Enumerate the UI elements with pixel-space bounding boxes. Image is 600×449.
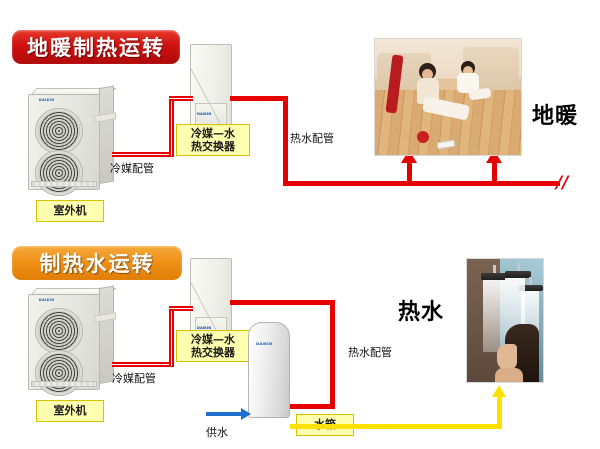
banner-floor-heating-mode: 地暖制热运转 [12, 30, 180, 64]
banner-hot-water-mode: 制热水运转 [12, 246, 182, 280]
shower-head-icon [505, 271, 531, 278]
brand-badge-icon: DAIKIN [39, 98, 54, 102]
photo-child-legs [468, 88, 491, 101]
label-hot-water-destination: 热水 [398, 294, 444, 326]
label-hot-water-pipe-bottom: 热水配管 [348, 344, 392, 360]
brand-badge-icon: DAIKIN [39, 298, 54, 302]
fan-grille-icon [36, 309, 82, 353]
outdoor-unit-body: DAIKIN [28, 294, 100, 390]
refrigerant-pipe-horizontal-top [112, 152, 174, 157]
brand-badge-icon: DAIKIN [256, 341, 272, 346]
label-refrigerant-pipe-top: 冷媒配管 [110, 160, 154, 176]
refrigerant-pipe-horizontal-bottom [112, 362, 174, 367]
photo-person-shoulder [495, 368, 523, 382]
photo-floor-heating-room [374, 38, 522, 156]
refrigerant-pipe-vertical-top [169, 96, 174, 156]
hot-water-riser-right-top [492, 160, 497, 184]
label-outdoor-unit-top: 室外机 [36, 200, 104, 222]
photo-person-child [455, 61, 489, 105]
label-outdoor-unit-bottom: 室外机 [36, 400, 104, 422]
photo-person-showering [495, 320, 539, 382]
fan-grille-icon [36, 109, 82, 153]
label-heat-exchanger-top: 冷媒—水 热交换器 [176, 124, 250, 156]
hot-water-pipe-from-hydrobox-top [230, 96, 288, 101]
diagram-canvas: 地暖制热运转 DAIKIN 室外机 DAIKIN 冷媒—水 热交换器 冷媒配管 … [0, 0, 600, 449]
louver-icon [31, 381, 97, 387]
hydrobox-top: DAIKIN [190, 44, 232, 130]
outdoor-unit-body: DAIKIN [28, 94, 100, 190]
shower-head-icon [481, 273, 507, 280]
water-tank: DAIKIN [248, 322, 290, 418]
hot-water-pipe-horizontal-top [283, 181, 560, 186]
hot-water-riser-left-top [407, 160, 412, 184]
hot-water-pipe-vertical-bottom [330, 300, 335, 408]
hot-water-pipe-to-tank-bottom [286, 404, 335, 409]
refrigerant-pipe-to-hydrobox-bottom [169, 306, 193, 311]
fan-grille-icon [36, 351, 82, 395]
flow-arrow-up-shower [492, 385, 506, 397]
photo-person-adult [415, 63, 441, 129]
hot-water-pipe-top-run-bottom [230, 300, 335, 305]
label-refrigerant-pipe-bottom: 冷媒配管 [112, 370, 156, 386]
label-heat-exchanger-bottom: 冷媒—水 热交换器 [176, 330, 250, 362]
louver-icon [31, 181, 97, 187]
tank-outlet-pipe-horizontal [290, 424, 502, 429]
pipe-break-mark-top: // [556, 175, 568, 192]
photo-person-face [497, 344, 517, 370]
refrigerant-pipe-to-hydrobox-top [169, 96, 193, 101]
photo-shower [466, 258, 544, 383]
label-floor-heating-destination: 地暖 [532, 98, 578, 130]
brand-badge-icon: DAIKIN [197, 112, 211, 116]
refrigerant-pipe-vertical-bottom [169, 306, 174, 366]
hot-water-pipe-vertical-top [283, 96, 288, 186]
outdoor-unit-bottom: DAIKIN [28, 288, 114, 392]
photo-yarn-ball [417, 131, 429, 143]
fan-grille-icon [36, 151, 82, 195]
label-water-supply: 供水 [206, 424, 228, 440]
label-hot-water-pipe-top: 热水配管 [290, 130, 334, 146]
tank-outlet-pipe-vertical [497, 396, 502, 428]
water-supply-arrow-icon [206, 412, 242, 416]
outdoor-unit-top: DAIKIN [28, 88, 114, 192]
